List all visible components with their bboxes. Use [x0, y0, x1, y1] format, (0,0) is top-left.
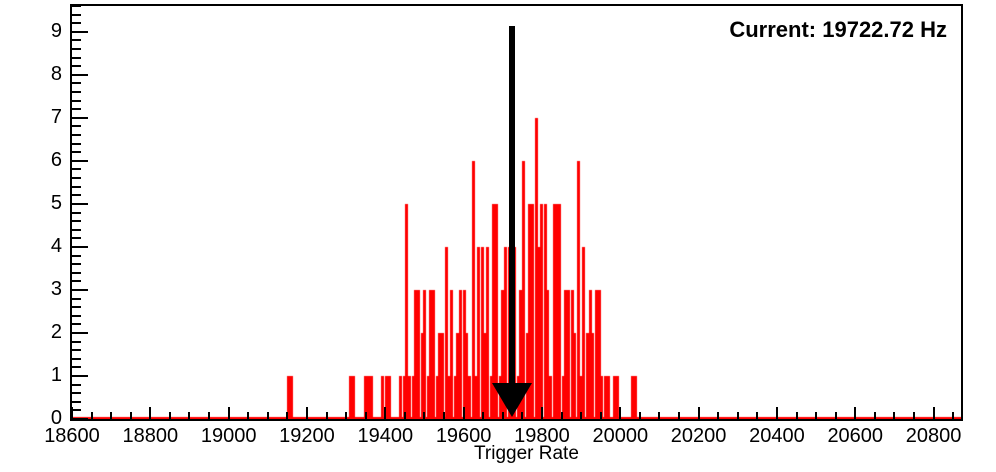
x-tick-label: 20800: [889, 425, 979, 447]
x-tick-minor: [404, 412, 406, 419]
x-tick-label: 18600: [27, 425, 117, 447]
y-tick-minor: [72, 220, 81, 222]
y-tick-minor: [72, 315, 81, 317]
x-tick-major: [463, 407, 465, 419]
y-tick-major: [72, 332, 88, 334]
x-tick-major: [306, 407, 308, 419]
y-tick-minor: [72, 349, 81, 351]
x-tick-minor: [815, 412, 817, 419]
y-tick-minor: [72, 91, 81, 93]
y-tick-minor: [72, 358, 81, 360]
y-tick-minor: [72, 409, 81, 411]
x-tick-label: 20400: [732, 425, 822, 447]
x-tick-major: [854, 407, 856, 419]
x-axis-title: Trigger Rate: [474, 444, 579, 464]
y-tick-minor: [72, 280, 81, 282]
y-tick-major: [72, 74, 88, 76]
y-tick-minor: [72, 186, 81, 188]
x-tick-minor: [580, 412, 582, 419]
x-tick-minor: [756, 412, 758, 419]
y-tick-minor: [72, 48, 81, 50]
y-tick-minor: [72, 272, 81, 274]
y-tick-label: 8: [36, 64, 62, 84]
x-tick-minor: [835, 412, 837, 419]
x-tick-major: [619, 407, 621, 419]
y-tick-major: [72, 203, 88, 205]
y-tick-major: [72, 289, 88, 291]
y-tick-major: [72, 418, 88, 420]
y-tick-minor: [72, 255, 81, 257]
y-tick-major: [72, 375, 88, 377]
x-tick-minor: [110, 412, 112, 419]
y-tick-major: [72, 160, 88, 162]
x-tick-minor: [639, 412, 641, 419]
x-tick-label: 18800: [105, 425, 195, 447]
y-tick-minor: [72, 401, 81, 403]
x-tick-label: 20600: [810, 425, 900, 447]
histogram-canvas: [72, 6, 961, 419]
x-tick-minor: [482, 412, 484, 419]
y-tick-minor: [72, 229, 81, 231]
y-tick-major: [72, 31, 88, 33]
x-tick-major: [384, 407, 386, 419]
x-tick-minor: [893, 412, 895, 419]
x-tick-major: [71, 407, 73, 419]
y-tick-label: 5: [36, 193, 62, 213]
marker-shaft: [509, 26, 515, 387]
y-tick-minor: [72, 108, 81, 110]
x-tick-minor: [208, 412, 210, 419]
y-tick-minor: [72, 5, 81, 7]
x-tick-minor: [188, 412, 190, 419]
x-tick-major: [698, 407, 700, 419]
y-tick-minor: [72, 212, 81, 214]
y-tick-major: [72, 246, 88, 248]
x-tick-label: 20000: [575, 425, 665, 447]
y-tick-label: 9: [36, 21, 62, 41]
x-tick-minor: [267, 412, 269, 419]
y-tick-minor: [72, 392, 81, 394]
x-tick-major: [149, 407, 151, 419]
x-tick-major: [776, 407, 778, 419]
y-tick-label: 3: [36, 279, 62, 299]
y-tick-minor: [72, 125, 81, 127]
x-tick-minor: [561, 412, 563, 419]
y-tick-minor: [72, 39, 81, 41]
x-tick-minor: [952, 412, 954, 419]
y-tick-label: 6: [36, 150, 62, 170]
marker-arrowhead: [492, 383, 532, 417]
y-tick-minor: [72, 237, 81, 239]
x-tick-major: [228, 407, 230, 419]
y-tick-minor: [72, 306, 81, 308]
y-tick-minor: [72, 323, 81, 325]
y-tick-major: [72, 117, 88, 119]
y-tick-minor: [72, 14, 81, 16]
x-tick-minor: [365, 412, 367, 419]
y-tick-minor: [72, 168, 81, 170]
x-tick-minor: [658, 412, 660, 419]
x-tick-minor: [345, 412, 347, 419]
y-tick-minor: [72, 151, 81, 153]
x-tick-minor: [286, 412, 288, 419]
y-tick-minor: [72, 263, 81, 265]
x-tick-minor: [913, 412, 915, 419]
x-tick-minor: [247, 412, 249, 419]
x-tick-minor: [443, 412, 445, 419]
y-tick-label: 1: [36, 365, 62, 385]
y-tick-minor: [72, 82, 81, 84]
x-tick-label: 19200: [262, 425, 352, 447]
y-tick-minor: [72, 65, 81, 67]
y-tick-label: 2: [36, 322, 62, 342]
y-tick-minor: [72, 298, 81, 300]
y-tick-minor: [72, 366, 81, 368]
y-tick-minor: [72, 57, 81, 59]
y-tick-minor: [72, 134, 81, 136]
x-tick-label: 20200: [654, 425, 744, 447]
plot-frame: [70, 4, 963, 421]
y-tick-minor: [72, 22, 81, 24]
y-tick-minor: [72, 341, 81, 343]
y-tick-label: 7: [36, 107, 62, 127]
y-tick-minor: [72, 177, 81, 179]
x-tick-minor: [717, 412, 719, 419]
x-tick-major: [541, 407, 543, 419]
y-tick-minor: [72, 384, 81, 386]
y-tick-minor: [72, 143, 81, 145]
y-tick-label: 4: [36, 236, 62, 256]
histogram-page: 0123456789 18600188001900019200194001960…: [0, 0, 996, 472]
x-tick-label: 19000: [184, 425, 274, 447]
x-tick-minor: [130, 412, 132, 419]
x-tick-minor: [169, 412, 171, 419]
x-tick-minor: [423, 412, 425, 419]
x-tick-minor: [796, 412, 798, 419]
x-tick-label: 19400: [340, 425, 430, 447]
current-rate-annotation: Current: 19722.72 Hz: [729, 18, 947, 42]
x-tick-minor: [326, 412, 328, 419]
x-tick-major: [933, 407, 935, 419]
y-tick-minor: [72, 194, 81, 196]
x-tick-minor: [678, 412, 680, 419]
x-tick-minor: [91, 412, 93, 419]
y-tick-minor: [72, 100, 81, 102]
x-tick-minor: [737, 412, 739, 419]
x-tick-minor: [600, 412, 602, 419]
x-tick-minor: [874, 412, 876, 419]
